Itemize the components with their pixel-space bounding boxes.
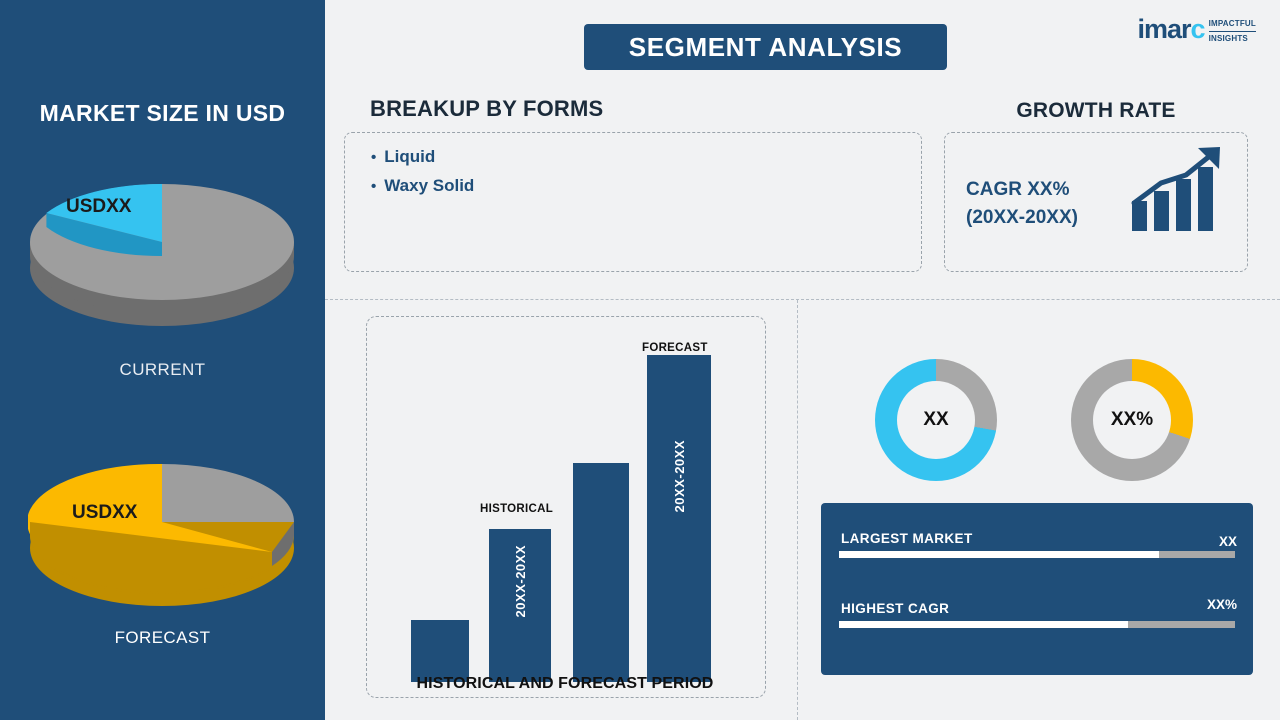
- largest-market-label: LARGEST MARKET: [841, 531, 973, 546]
- largest-market-fill: [839, 551, 1159, 558]
- forms-list-item-0: • Liquid: [371, 147, 895, 167]
- imarc-logo: imarc IMPACTFUL INSIGHTS: [1138, 14, 1257, 45]
- donut-1-center-label: XX%: [1093, 381, 1171, 459]
- logo-tagline: IMPACTFUL INSIGHTS: [1209, 19, 1256, 44]
- bar-1: 20XX-20XX: [489, 529, 551, 682]
- forecast-annotation: FORECAST: [642, 342, 708, 354]
- horizontal-divider: [325, 299, 1280, 300]
- bullet-icon: •: [371, 178, 376, 195]
- growth-rate-heading: GROWTH RATE: [944, 99, 1248, 123]
- highest-cagr-fill: [839, 621, 1128, 628]
- logo-wordmark: imarc: [1138, 14, 1205, 45]
- forms-box: • Liquid • Waxy Solid: [344, 132, 922, 272]
- forecast-pie-value: USDXX: [72, 502, 137, 524]
- historical-annotation: HISTORICAL: [480, 503, 553, 515]
- donut-chart-1: XX%: [1071, 359, 1193, 481]
- bar-chart-caption: HISTORICAL AND FORECAST PERIOD: [325, 675, 805, 693]
- logo-tagline-line1: IMPACTFUL: [1209, 19, 1256, 32]
- largest-market-value: XX: [1219, 534, 1237, 549]
- forms-item-label: Liquid: [384, 147, 435, 167]
- forms-item-label: Waxy Solid: [384, 176, 474, 196]
- bar-0: [411, 620, 469, 682]
- forecast-pie-chart: USDXX: [28, 440, 296, 615]
- bar-3: 20XX-20XX: [647, 355, 711, 682]
- infographic-page: MARKET SIZE IN USD USDXX CURRENT: [0, 0, 1280, 720]
- growth-arrow-chart: [1128, 145, 1228, 240]
- forms-list-item-1: • Waxy Solid: [371, 176, 895, 196]
- current-pie-svg: [28, 160, 296, 335]
- highest-cagr-label: HIGHEST CAGR: [841, 601, 949, 616]
- donut-0-center-label: XX: [897, 381, 975, 459]
- cagr-period: (20XX-20XX): [966, 204, 1126, 232]
- bar-3-label: 20XX-20XX: [672, 440, 687, 512]
- historical-forecast-chart: 20XX-20XX 20XX-20XX HISTORICAL FORECAST: [366, 316, 766, 698]
- bullet-icon: •: [371, 149, 376, 166]
- market-size-panel: MARKET SIZE IN USD USDXX CURRENT: [0, 0, 325, 720]
- page-title: SEGMENT ANALYSIS: [584, 24, 947, 70]
- forms-heading: BREAKUP BY FORMS: [370, 96, 603, 122]
- current-pie-chart: USDXX: [28, 160, 296, 335]
- bar-2: [573, 463, 629, 682]
- cagr-value: CAGR XX%: [966, 176, 1126, 204]
- growth-arrow-svg: [1128, 145, 1228, 235]
- market-stats-card: LARGEST MARKET XX HIGHEST CAGR XX%: [821, 503, 1253, 675]
- cagr-text: CAGR XX% (20XX-20XX): [966, 176, 1126, 232]
- forecast-pie-svg: [28, 440, 296, 615]
- vertical-divider: [797, 300, 798, 720]
- current-pie-value: USDXX: [66, 196, 131, 218]
- bar-1-label: 20XX-20XX: [513, 545, 528, 617]
- donut-chart-0: XX: [875, 359, 997, 481]
- highest-cagr-value: XX%: [1207, 597, 1237, 612]
- market-size-title: MARKET SIZE IN USD: [0, 100, 325, 127]
- logo-tagline-line2: INSIGHTS: [1209, 34, 1256, 44]
- current-label: CURRENT: [0, 360, 325, 380]
- forecast-label: FORECAST: [0, 628, 325, 648]
